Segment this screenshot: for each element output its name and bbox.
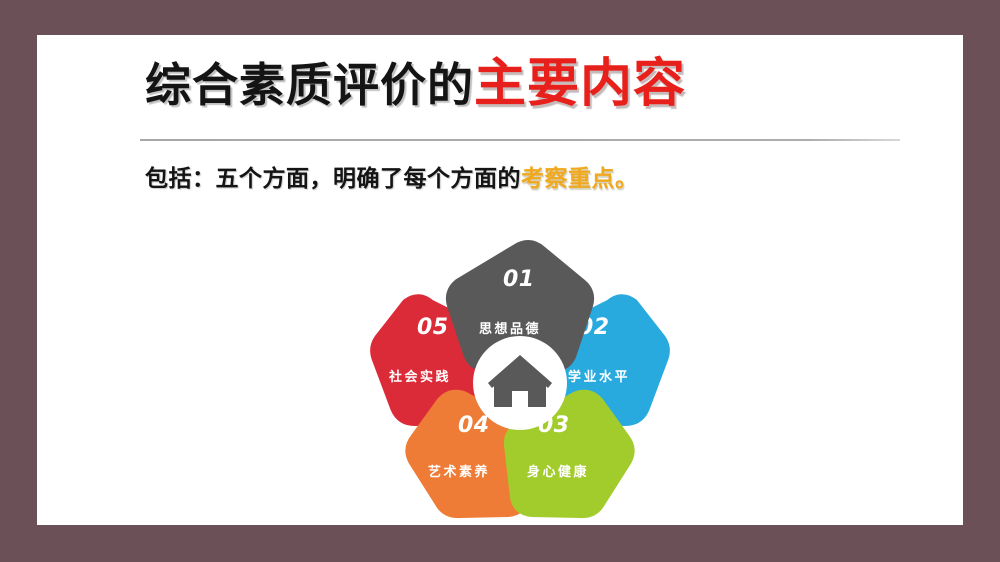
slide-frame: 综合素质评价的主要内容 包括：五个方面，明确了每个方面的考察重点。 05 社会实… bbox=[0, 0, 1000, 562]
center-hub[interactable] bbox=[473, 336, 567, 430]
petal-04-label: 艺术素养 bbox=[428, 464, 490, 480]
petal-01-label: 思想品德 bbox=[479, 321, 541, 337]
page-title-accent: 主要内容 bbox=[474, 54, 686, 114]
pentagon-petal-diagram: 05 社会实践 02 学业水平 04 艺术素养 bbox=[375, 231, 665, 516]
petal-05-label: 社会实践 bbox=[388, 369, 451, 385]
petal-05-number: 05 bbox=[417, 315, 449, 340]
page-subtitle-accent: 考察重点。 bbox=[521, 166, 639, 192]
page-title-main: 综合素质评价的 bbox=[145, 58, 474, 112]
title-divider bbox=[140, 139, 900, 141]
petal-01-number: 01 bbox=[503, 267, 535, 292]
page-subtitle: 包括：五个方面，明确了每个方面的考察重点。 bbox=[145, 159, 639, 193]
petal-04-number: 04 bbox=[458, 413, 490, 438]
slide-canvas: 综合素质评价的主要内容 包括：五个方面，明确了每个方面的考察重点。 05 社会实… bbox=[37, 35, 963, 525]
petal-02-label: 学业水平 bbox=[568, 369, 630, 385]
page-subtitle-main: 包括：五个方面，明确了每个方面的 bbox=[145, 166, 521, 192]
petal-03-label: 身心健康 bbox=[527, 464, 589, 480]
page-title: 综合素质评价的主要内容 bbox=[145, 57, 925, 112]
